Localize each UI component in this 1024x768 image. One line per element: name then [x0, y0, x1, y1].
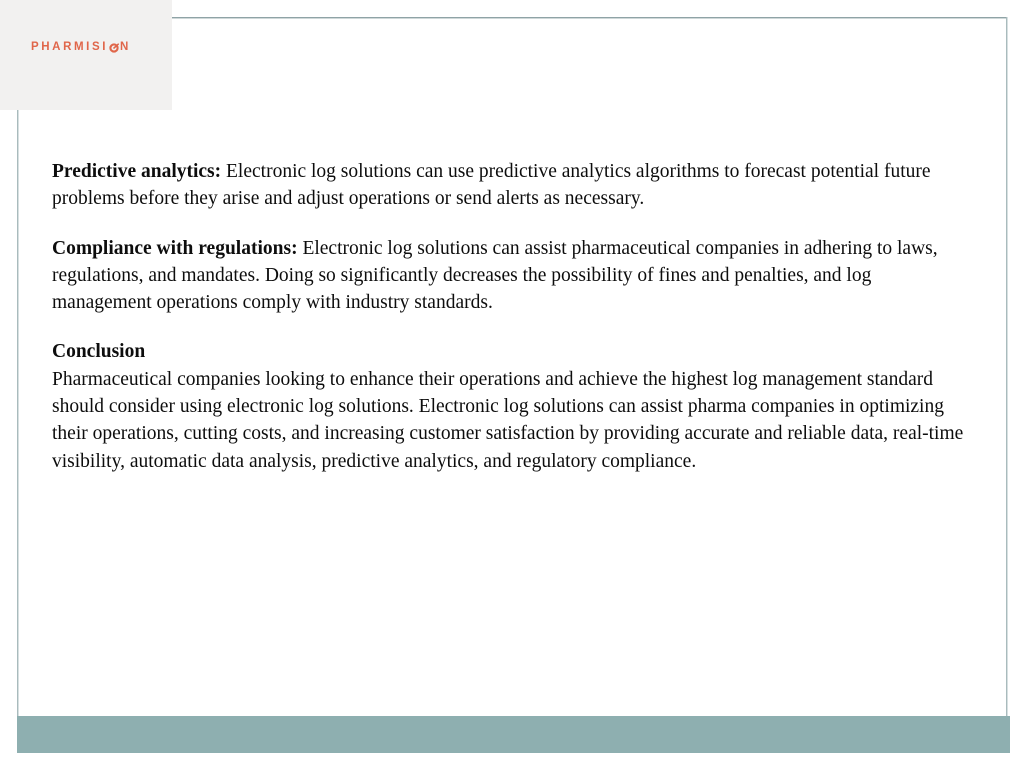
logo-plate: PHARMISI N	[0, 0, 172, 110]
frame-top-rule	[171, 17, 1007, 18]
paragraph-predictive-analytics: Predictive analytics: Electronic log sol…	[52, 158, 964, 213]
conclusion-heading: Conclusion	[52, 338, 964, 365]
slide-canvas: PHARMISI N Predictive analytics: Electro…	[0, 0, 1024, 768]
slide-body: Predictive analytics: Electronic log sol…	[52, 158, 964, 475]
stylized-o-icon	[109, 43, 119, 53]
footer-band	[17, 716, 1010, 753]
paragraph-lead-label: Compliance with regulations:	[52, 238, 298, 259]
brand-wordmark-main: PHARMISI	[31, 42, 108, 54]
brand-wordmark-tail: N	[120, 42, 131, 54]
conclusion-text: Pharmaceutical companies looking to enha…	[52, 366, 964, 475]
paragraph-compliance-with-regulations: Compliance with regulations: Electronic …	[52, 235, 964, 317]
brand-logo[interactable]: PHARMISI N	[31, 42, 131, 54]
conclusion-section: Conclusion Pharmaceutical companies look…	[52, 338, 964, 474]
frame-right-rule	[1006, 17, 1007, 753]
frame-left-rule	[17, 110, 18, 753]
paragraph-lead-label: Predictive analytics:	[52, 161, 221, 182]
